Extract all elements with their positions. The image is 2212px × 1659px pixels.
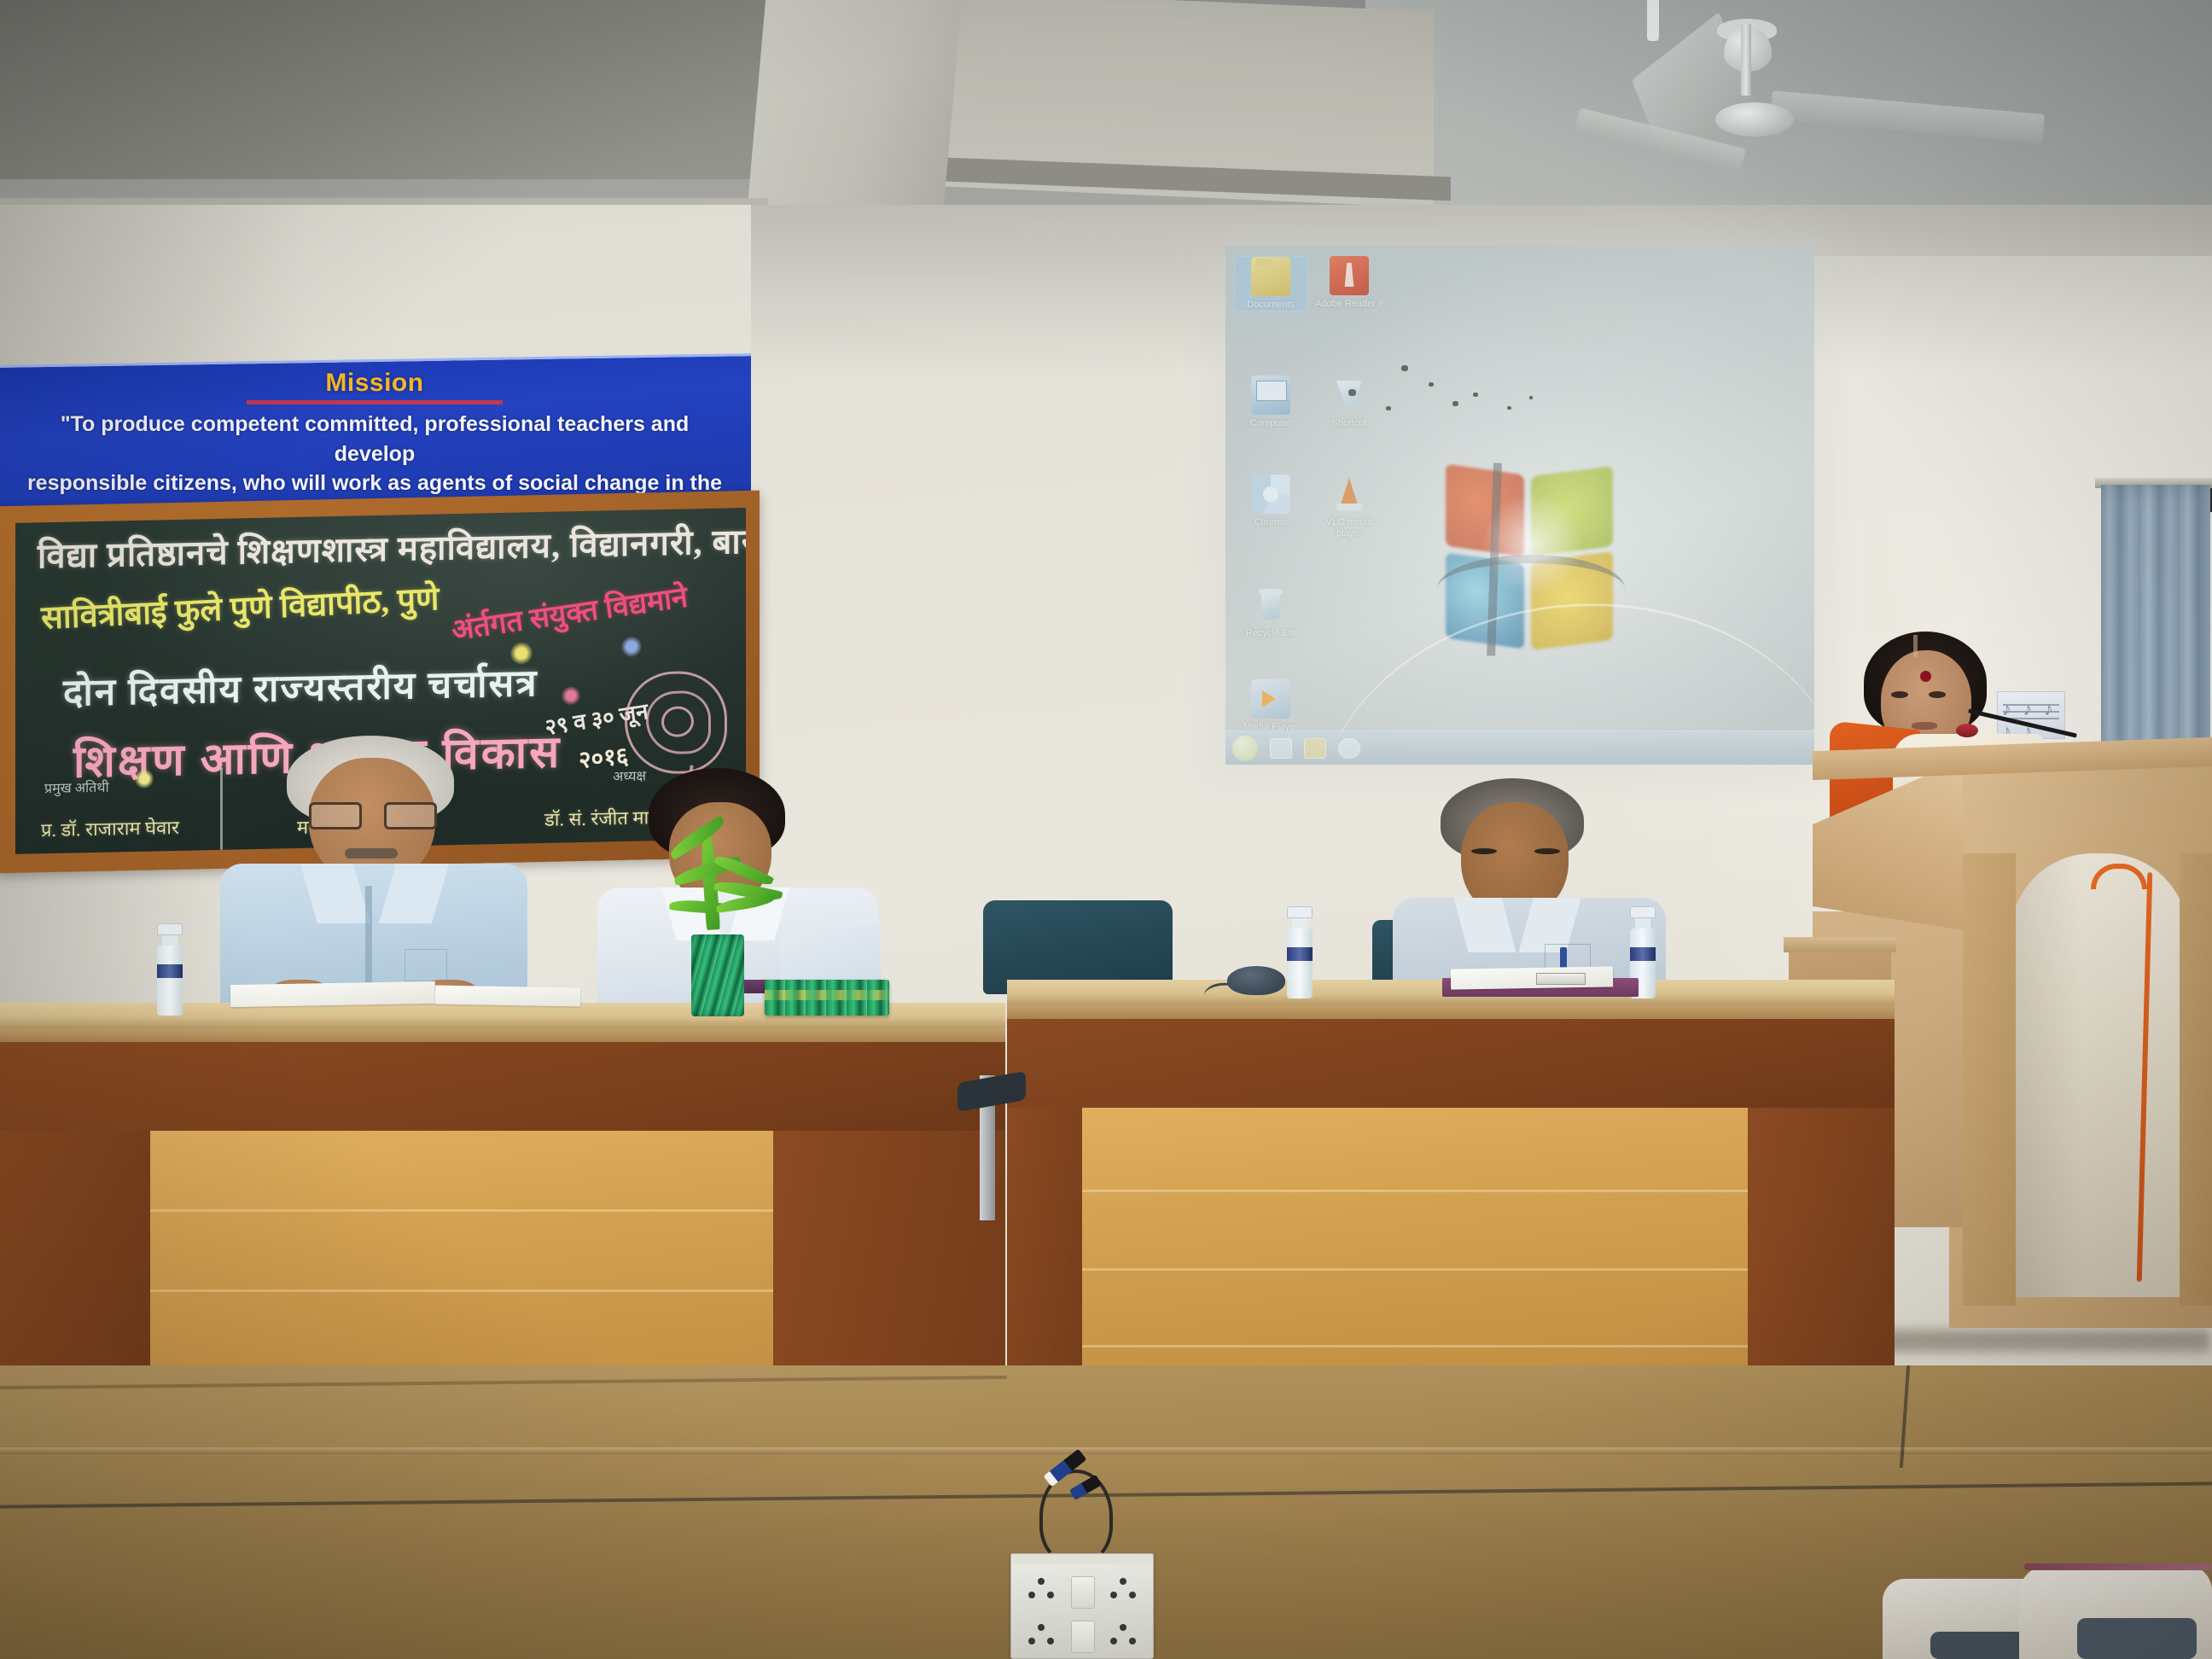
bottle-neck — [1292, 918, 1307, 928]
bottle-label — [1630, 947, 1656, 961]
table-apron — [0, 1040, 1005, 1139]
desktop-icon-label: Documents — [1235, 300, 1307, 311]
taskbar[interactable] — [1225, 731, 1814, 765]
desktop-icon-computer[interactable]: Computer — [1234, 375, 1307, 429]
desktop-icon-label: Chrome — [1234, 517, 1307, 528]
mouth — [1912, 722, 1937, 730]
document-papers[interactable] — [230, 981, 435, 1007]
table-edge — [1007, 1004, 1895, 1019]
folder-icon — [1251, 257, 1290, 296]
desktop-icon-label: VLC media player — [1313, 517, 1386, 538]
desktop-icon-adobe-reader[interactable]: Adobe Reader 9 — [1313, 256, 1386, 310]
chair-rim-highlight — [2024, 1563, 2212, 1570]
podium-left-post — [1963, 853, 2016, 1306]
socket-panel-top — [1011, 1554, 1153, 1564]
taskbar-browser-icon[interactable] — [1270, 738, 1292, 759]
vlc-cone-icon — [1330, 474, 1369, 514]
podium-right-post — [2180, 853, 2212, 1306]
projection-screen: Documents Adobe Reader 9 Computer Shortc… — [1225, 246, 1814, 765]
chair-shadow — [2077, 1618, 2197, 1659]
mission-banner: Mission "To produce competent committed,… — [0, 353, 751, 510]
media-player-icon — [1251, 679, 1290, 719]
computer-mouse[interactable] — [1227, 966, 1285, 995]
chrome-icon — [1251, 474, 1290, 514]
bottle-cap — [157, 923, 183, 935]
moustache — [345, 848, 398, 859]
bottle-label — [1287, 947, 1313, 961]
blackboard-line-4: दोन दिवसीय राज्यस्तरीय चर्चासत्र — [63, 655, 538, 717]
podium-arch-shading — [2011, 853, 2188, 1297]
desktop-icon-label: Recycle Bin — [1234, 628, 1307, 639]
document-papers[interactable] — [1451, 966, 1613, 989]
desktop-icon-label: Adobe Reader 9 — [1313, 299, 1386, 310]
taskbar-media-icon[interactable] — [1338, 738, 1360, 759]
desktop-icon-media-player[interactable]: Media Player — [1234, 679, 1307, 733]
table-edge — [0, 1027, 1005, 1042]
mission-heading: Mission — [20, 369, 729, 398]
water-bottle[interactable] — [157, 923, 183, 1016]
table-apron — [1007, 1017, 1895, 1116]
desktop-icon-chrome[interactable]: Chrome — [1234, 474, 1307, 528]
seated-man-left — [220, 736, 527, 1009]
desktop-icon-label: Computer — [1234, 418, 1307, 429]
bottle-neck — [162, 935, 178, 946]
light-switch[interactable] — [1071, 1621, 1095, 1653]
bottle-label — [157, 964, 183, 978]
power-socket[interactable] — [1103, 1619, 1148, 1659]
wall-socket-panel[interactable] — [1010, 1553, 1154, 1659]
bottle-body — [157, 946, 183, 1016]
desktop-icon-shortcut[interactable]: Shortcut — [1313, 375, 1386, 429]
desktop-icon-recycle-bin[interactable]: Recycle Bin — [1234, 585, 1307, 639]
bindi-icon — [1920, 671, 1931, 682]
podium-lectern-slope — [1813, 760, 1963, 930]
pdf-icon — [1330, 256, 1369, 295]
fan-down-rod — [1741, 24, 1751, 96]
power-socket[interactable] — [1022, 1619, 1066, 1659]
eye-left — [1891, 691, 1908, 698]
start-button[interactable] — [1232, 736, 1258, 761]
eye-right — [1929, 691, 1946, 698]
mission-divider — [247, 400, 503, 405]
computer-icon — [1251, 375, 1290, 415]
ceiling-fan — [1715, 102, 1794, 137]
dais-table-right — [1007, 980, 1895, 1398]
desktop-icon-label: Shortcut — [1313, 418, 1386, 429]
light-switch[interactable] — [1071, 1576, 1095, 1609]
desktop-icon-documents[interactable]: Documents — [1234, 256, 1307, 311]
bottle-cap — [1287, 906, 1313, 918]
taskbar-explorer-icon[interactable] — [1304, 738, 1326, 759]
desktop-icon-vlc[interactable]: VLC media player — [1313, 474, 1386, 538]
blackboard-name-1: प्र. डॉ. राजाराम घेवार — [41, 814, 179, 842]
potted-plant-pot — [691, 934, 744, 1016]
bottle-cap — [1630, 906, 1656, 918]
side-table-top — [1784, 937, 1896, 952]
water-bottle[interactable] — [1287, 906, 1313, 998]
blackboard-sublabel-left: प्रमुख अतिथी — [44, 777, 109, 798]
seminar-hall-photo: Mission "To produce competent committed,… — [0, 0, 2212, 1659]
document-papers[interactable] — [435, 986, 580, 1007]
ceiling-left-panel — [0, 0, 768, 179]
stacked-white-chairs[interactable] — [1874, 1558, 2212, 1659]
bottle-neck — [1635, 918, 1650, 928]
hair-parting — [1913, 635, 1918, 657]
mission-line-1: "To produce competent committed, profess… — [20, 410, 729, 469]
eyes — [1471, 848, 1560, 855]
ceiling-light-fixture — [1647, 0, 1659, 41]
gift-box[interactable] — [765, 980, 889, 1016]
chalk-rose-icon — [625, 670, 727, 775]
power-socket[interactable] — [1103, 1573, 1148, 1614]
power-socket[interactable] — [1022, 1573, 1066, 1614]
projector-hotspot — [1481, 493, 1584, 596]
bottle-body — [1287, 928, 1313, 998]
recycle-bin-icon — [1251, 585, 1290, 625]
microphone[interactable] — [1956, 724, 1978, 737]
spectacles-icon — [309, 802, 437, 824]
folder-clip — [1536, 973, 1586, 985]
shirt-pocket — [405, 949, 447, 981]
